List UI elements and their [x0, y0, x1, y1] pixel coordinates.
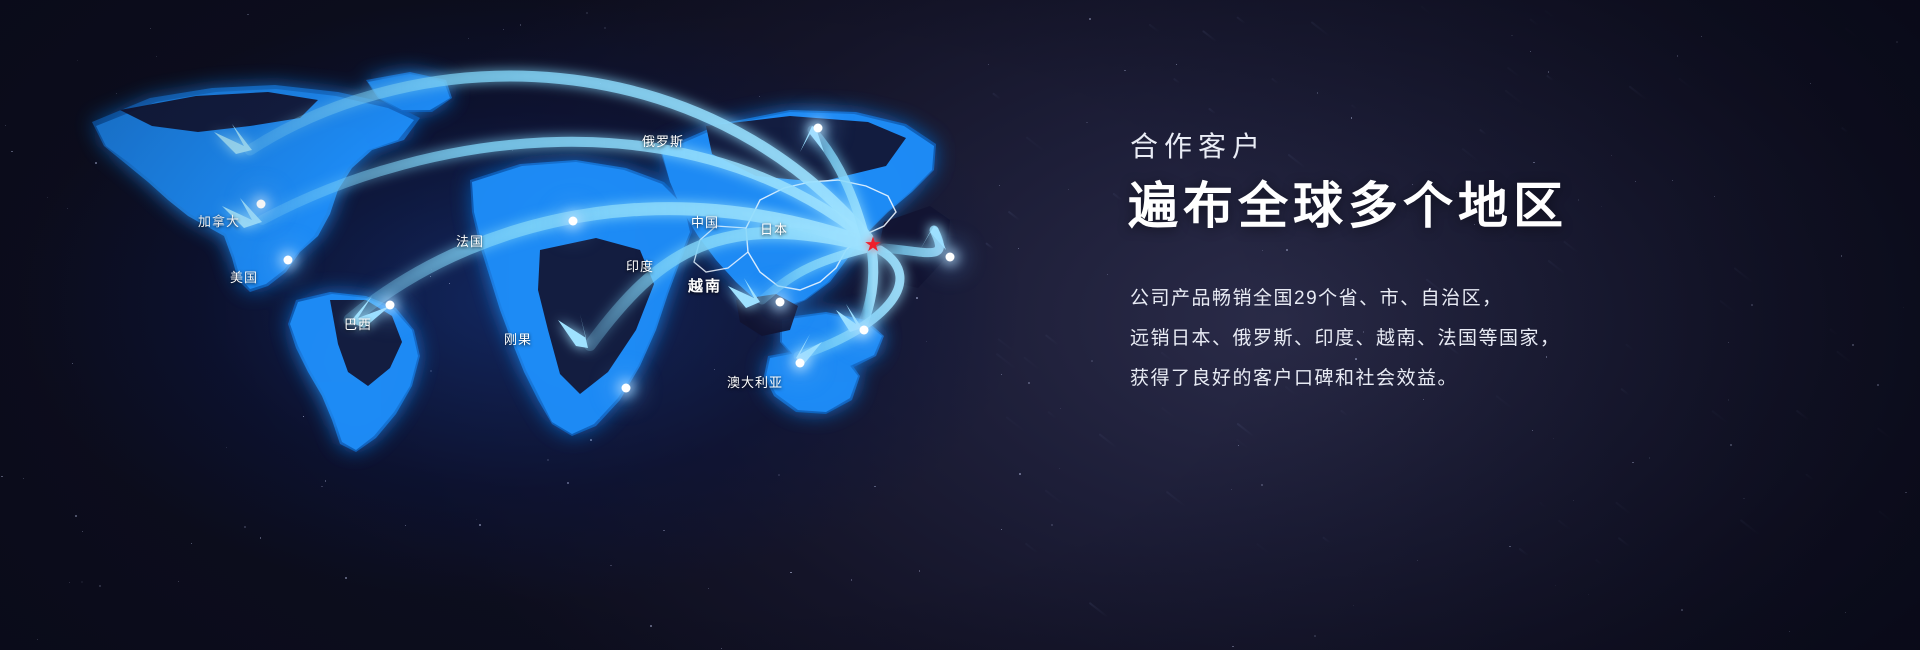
star-speck — [1852, 344, 1853, 345]
map-marker-canada[interactable] — [257, 200, 266, 209]
star-streak — [1045, 489, 1063, 504]
star-speck — [1001, 529, 1002, 530]
star-streak — [1166, 491, 1186, 507]
star-streak — [1595, 558, 1602, 564]
star-streak — [1149, 23, 1159, 31]
star-speck — [1423, 399, 1424, 400]
star-icon: ★ — [864, 235, 882, 255]
star-speck — [1548, 71, 1550, 73]
hero-body-line: 公司产品畅销全国29个省、市、自治区， — [1130, 279, 1828, 319]
star-speck — [1810, 83, 1811, 84]
map-marker-china[interactable]: ★ — [864, 235, 882, 255]
star-streak — [1256, 543, 1270, 555]
star-speck — [1317, 92, 1319, 94]
star-streak — [1025, 543, 1038, 553]
map-marker-india[interactable] — [776, 298, 785, 307]
world-map: 加拿大美国巴西法国刚果印度俄罗斯★中国日本越南澳大利亚 — [0, 0, 960, 650]
star-streak — [1545, 10, 1555, 18]
star-speck — [1530, 51, 1531, 52]
map-label-vietnam: 越南 — [688, 275, 722, 296]
map-marker-japan[interactable] — [946, 253, 955, 262]
star-speck — [1511, 35, 1513, 37]
star-streak — [1237, 422, 1255, 436]
map-label-canada: 加拿大 — [198, 211, 240, 230]
star-streak — [1796, 410, 1808, 420]
star-streak — [1099, 433, 1117, 448]
star-streak — [1209, 107, 1216, 113]
star-streak — [1829, 329, 1837, 336]
star-streak — [1559, 520, 1572, 530]
location-dot-icon — [814, 124, 823, 133]
star-streak — [1024, 357, 1040, 370]
star-speck — [1743, 498, 1745, 500]
map-label-india: 印度 — [626, 256, 654, 275]
location-dot-icon — [860, 326, 869, 335]
star-speck — [1091, 360, 1093, 362]
star-speck — [1845, 612, 1846, 613]
star-streak — [1351, 105, 1357, 110]
star-speck — [1905, 492, 1906, 493]
star-streak — [1006, 416, 1025, 431]
map-marker-congo[interactable] — [622, 384, 631, 393]
star-speck — [1314, 635, 1316, 637]
star-streak — [992, 92, 1000, 99]
star-streak — [1618, 537, 1630, 547]
map-label-china: 中国 — [691, 212, 719, 231]
star-speck — [1841, 255, 1843, 257]
star-speck — [1701, 36, 1702, 37]
hero-body: 公司产品畅销全国29个省、市、自治区，远销日本、俄罗斯、印度、越南、法国等国家，… — [1130, 279, 1828, 399]
hero-headline: 遍布全球多个地区 — [1128, 178, 1828, 236]
location-dot-icon — [569, 217, 578, 226]
star-speck — [1068, 189, 1069, 190]
star-speck — [1124, 70, 1126, 72]
star-streak — [1628, 85, 1646, 100]
star-streak — [1089, 602, 1108, 618]
star-speck — [1632, 462, 1634, 464]
star-speck — [1555, 585, 1556, 586]
star-speck — [1677, 55, 1679, 57]
star-speck — [1232, 646, 1233, 647]
world-map-svg — [0, 0, 960, 650]
star-speck — [1588, 594, 1589, 595]
star-streak — [1519, 548, 1529, 556]
star-speck — [1261, 484, 1262, 485]
star-streak — [1878, 428, 1891, 439]
star-streak — [1546, 75, 1553, 81]
star-streak — [1507, 66, 1520, 76]
star-streak — [1113, 192, 1123, 200]
hero-body-line: 获得了良好的客户口碑和社会效益。 — [1130, 359, 1828, 399]
star-streak — [998, 338, 1014, 351]
location-dot-icon — [284, 256, 293, 265]
map-marker-australia[interactable] — [796, 359, 805, 368]
star-speck — [1028, 382, 1029, 383]
star-streak — [1047, 410, 1056, 418]
map-marker-vietnam[interactable] — [860, 326, 869, 335]
star-streak — [1805, 473, 1813, 480]
hero-eyebrow: 合作客户 — [1130, 130, 1828, 164]
star-streak — [1841, 127, 1848, 133]
star-speck — [1353, 605, 1354, 606]
star-speck — [1051, 524, 1053, 526]
star-speck — [1789, 631, 1790, 632]
map-label-usa: 美国 — [230, 267, 258, 286]
map-label-russia: 俄罗斯 — [642, 131, 684, 150]
star-streak — [1162, 407, 1176, 419]
star-streak — [1173, 78, 1180, 84]
star-streak — [1008, 211, 1020, 221]
star-speck — [1532, 430, 1533, 431]
location-dot-icon — [796, 359, 805, 368]
star-speck — [1086, 122, 1087, 123]
star-streak — [1712, 410, 1729, 423]
star-streak — [1678, 77, 1693, 89]
star-speck — [1896, 41, 1898, 43]
star-speck — [1059, 468, 1061, 470]
star-speck — [1573, 500, 1574, 501]
map-marker-brazil[interactable] — [386, 301, 395, 310]
star-streak — [1311, 21, 1330, 36]
star-speck — [1351, 117, 1352, 118]
star-speck — [1728, 399, 1730, 401]
star-streak — [996, 353, 1016, 369]
map-label-brazil: 巴西 — [344, 314, 372, 333]
star-speck — [988, 64, 989, 65]
star-streak — [1615, 501, 1630, 513]
location-dot-icon — [776, 298, 785, 307]
star-speck — [1060, 408, 1061, 409]
location-dot-icon — [622, 384, 631, 393]
location-dot-icon — [386, 301, 395, 310]
star-streak — [1421, 6, 1431, 15]
map-marker-usa[interactable] — [284, 256, 293, 265]
star-speck — [999, 185, 1000, 186]
star-streak — [1529, 19, 1537, 26]
map-label-australia: 澳大利亚 — [727, 372, 783, 391]
star-speck — [1231, 489, 1232, 490]
location-dot-icon — [257, 200, 266, 209]
star-streak — [1505, 90, 1523, 105]
map-label-congo: 刚果 — [504, 329, 532, 348]
star-streak — [1740, 519, 1759, 534]
star-speck — [1509, 546, 1510, 547]
map-label-japan: 日本 — [760, 219, 788, 238]
star-speck — [1018, 248, 1019, 249]
star-speck — [1107, 274, 1108, 275]
star-streak — [985, 242, 993, 249]
star-speck — [1877, 384, 1879, 386]
star-speck — [1238, 445, 1240, 447]
star-streak — [1045, 334, 1059, 345]
map-marker-france[interactable] — [569, 217, 578, 226]
star-streak — [1026, 136, 1045, 151]
star-streak — [1271, 78, 1278, 84]
star-speck — [1553, 438, 1554, 439]
star-speck — [1176, 64, 1177, 65]
star-speck — [1681, 609, 1683, 611]
star-streak — [1540, 502, 1547, 508]
star-speck — [1019, 473, 1021, 475]
star-streak — [1236, 16, 1244, 23]
hero-body-line: 远销日本、俄罗斯、印度、越南、法国等国家， — [1130, 319, 1828, 359]
star-streak — [1845, 27, 1858, 38]
star-streak — [1322, 536, 1330, 543]
star-streak — [1878, 510, 1894, 523]
star-streak — [1236, 439, 1249, 450]
location-dot-icon — [946, 253, 955, 262]
star-speck — [1417, 560, 1418, 561]
star-speck — [1649, 457, 1650, 458]
map-marker-russia[interactable] — [814, 124, 823, 133]
star-speck — [1089, 18, 1091, 20]
star-speck — [1001, 374, 1002, 375]
star-streak — [1341, 410, 1348, 416]
hero-text-panel: 合作客户 遍布全球多个地区 公司产品畅销全国29个省、市、自治区，远销日本、俄罗… — [1128, 130, 1828, 399]
star-speck — [1730, 444, 1731, 445]
hero-banner: 加拿大美国巴西法国刚果印度俄罗斯★中国日本越南澳大利亚 合作客户 遍布全球多个地… — [0, 0, 1920, 650]
map-label-france: 法国 — [456, 231, 484, 250]
star-streak — [1202, 30, 1216, 42]
star-speck — [1903, 307, 1904, 308]
star-streak — [1837, 351, 1852, 363]
